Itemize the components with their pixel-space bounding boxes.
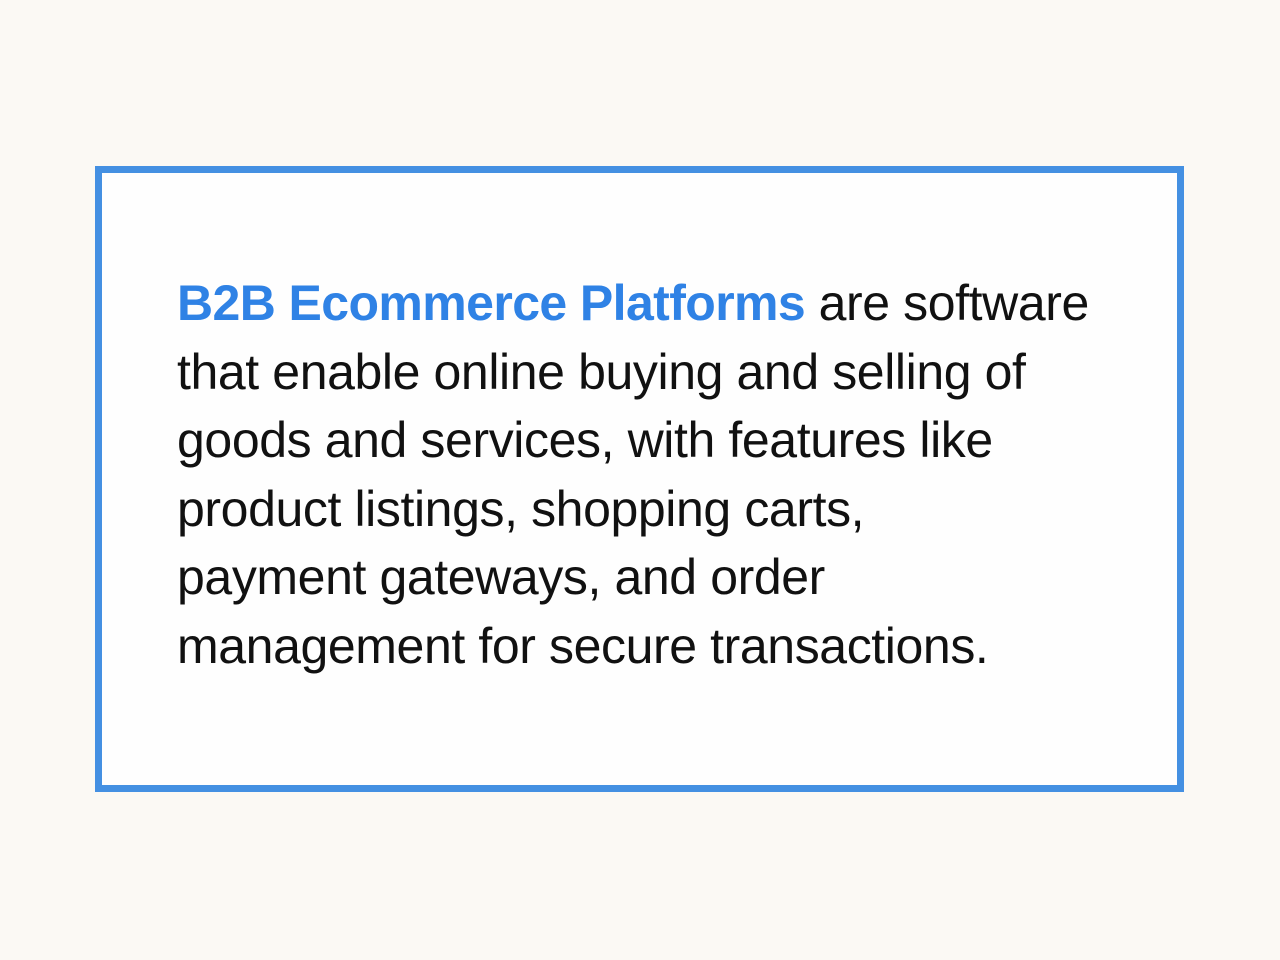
- definition-line-6: management for secure transactions.: [177, 612, 1117, 681]
- definition-line-1-rest: are software: [805, 275, 1089, 331]
- definition-term: B2B Ecommerce Platforms: [177, 275, 805, 331]
- definition-line-4: product listings, shopping carts,: [177, 475, 1117, 544]
- definition-line-5: payment gateways, and order: [177, 543, 1117, 612]
- definition-card: B2B Ecommerce Platforms are software tha…: [95, 166, 1184, 792]
- definition-line-3: goods and services, with features like: [177, 406, 1117, 475]
- definition-text-block: B2B Ecommerce Platforms are software tha…: [177, 269, 1117, 680]
- page-root: B2B Ecommerce Platforms are software tha…: [0, 0, 1280, 960]
- definition-line-2: that enable online buying and selling of: [177, 338, 1117, 407]
- definition-line-1: B2B Ecommerce Platforms are software: [177, 269, 1117, 338]
